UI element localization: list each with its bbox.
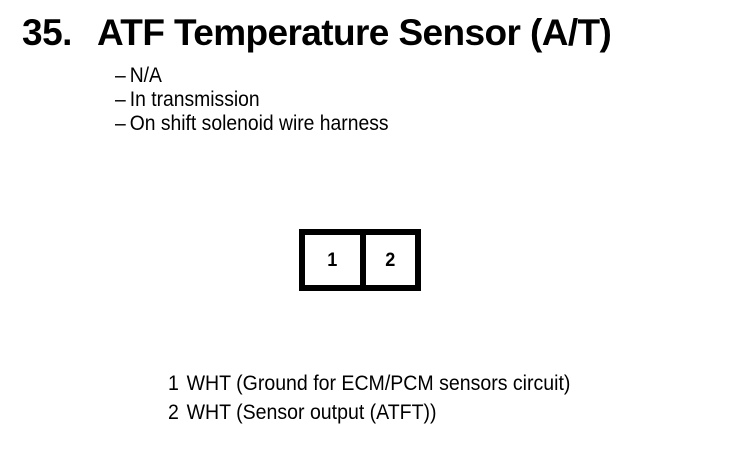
pin-legend-row: 1 WHT (Ground for ECM/PCM sensors circui… [168,369,670,398]
list-item-label: On shift solenoid wire harness [130,112,389,136]
pin-legend-row: 2 WHT (Sensor output (ATFT)) [168,398,670,427]
pin-legend: 1 WHT (Ground for ECM/PCM sensors circui… [168,369,708,427]
dash-bullet-icon: – [115,112,130,136]
connector-terminal-2: 2 [360,235,415,285]
dash-bullet-icon: – [115,64,130,88]
specification-list: – N/A – In transmission – On shift solen… [115,64,675,136]
list-item-label: N/A [130,64,162,88]
page-title: ATF Temperature Sensor (A/T) [97,12,611,54]
section-number: 35. [22,12,72,54]
diagram-page: 35. ATF Temperature Sensor (A/T) – N/A –… [0,0,736,458]
connector-terminal-1: 1 [305,235,360,285]
pin-number: 1 [168,369,187,398]
dash-bullet-icon: – [115,88,130,112]
connector-diagram: 1 2 [299,229,421,291]
terminal-number-label: 2 [385,251,395,270]
list-item: – In transmission [115,88,630,112]
terminal-number-label: 1 [327,251,337,270]
list-item-label: In transmission [130,88,260,112]
list-item: – On shift solenoid wire harness [115,112,630,136]
list-item: – N/A [115,64,630,88]
pin-number: 2 [168,398,187,427]
pin-description: WHT (Sensor output (ATFT)) [187,398,437,427]
section-heading: 35. ATF Temperature Sensor (A/T) [22,12,611,54]
pin-description: WHT (Ground for ECM/PCM sensors circuit) [187,369,571,398]
